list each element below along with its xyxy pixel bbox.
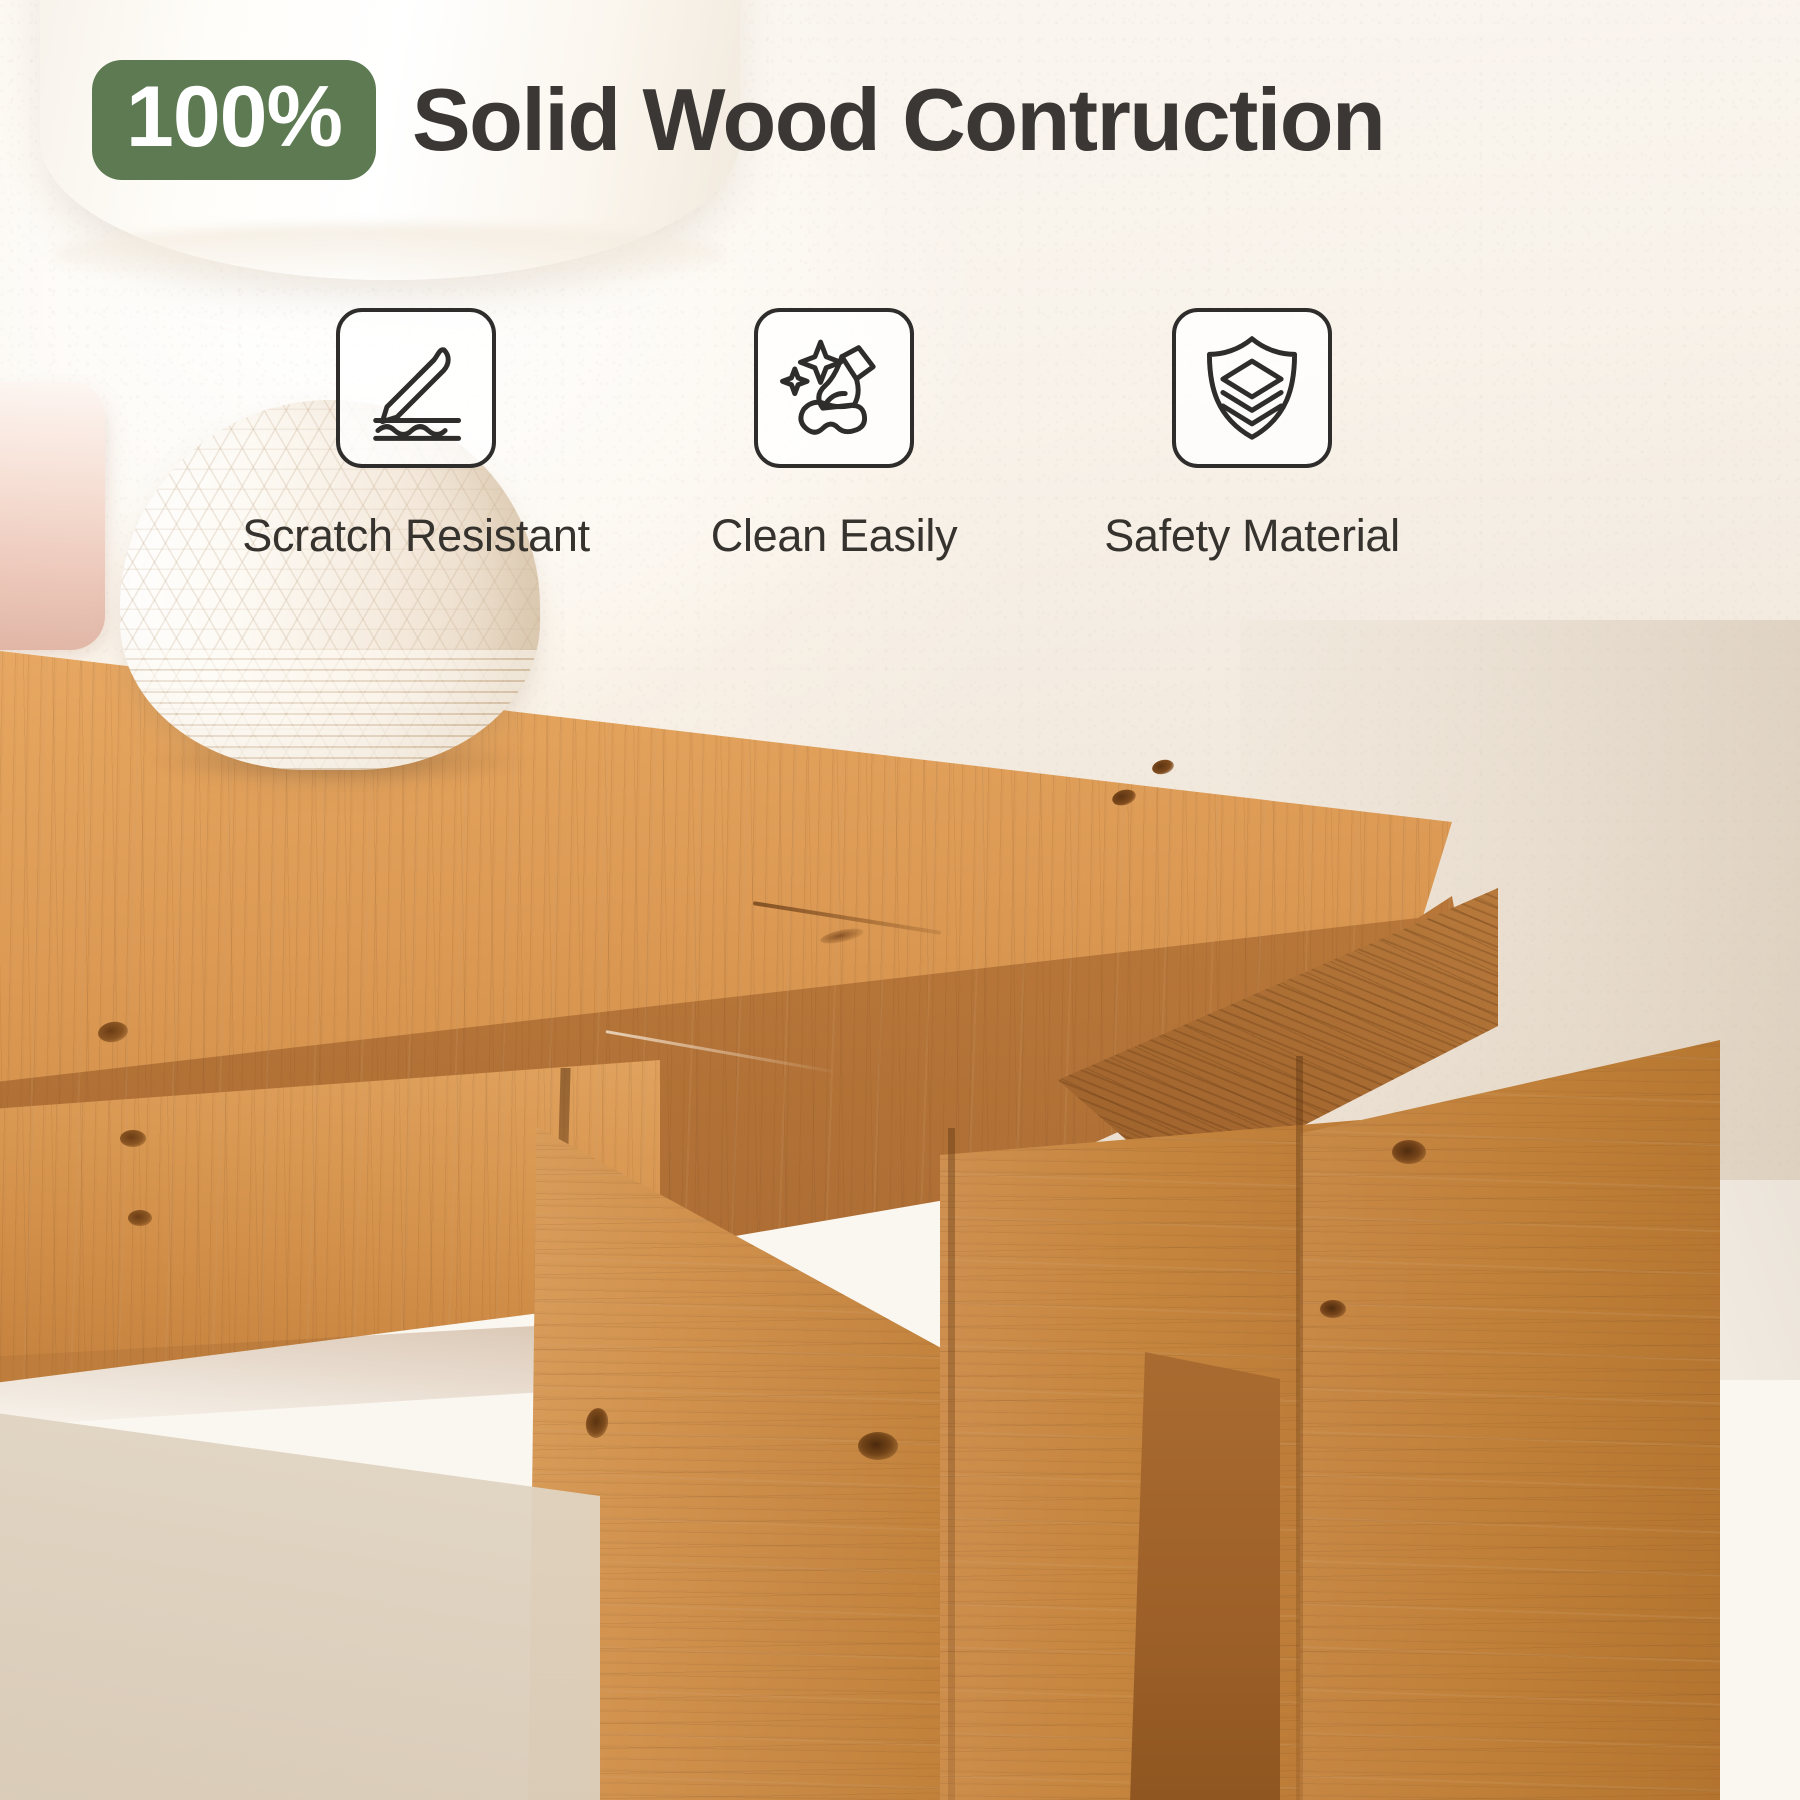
icon-box-safety-material <box>1172 308 1332 468</box>
icon-box-clean-easily <box>754 308 914 468</box>
hand-wipe-sparkle-icon <box>778 332 890 444</box>
feature-label-safety-material: Safety Material <box>1104 510 1400 562</box>
feature-item-safety-material: Safety Material <box>1136 308 1368 562</box>
product-feature-banner: 100% Solid Wood Contruction Scratch Resi… <box>0 0 1800 1800</box>
feature-label-scratch-resistant: Scratch Resistant <box>242 510 590 562</box>
marketing-overlay: 100% Solid Wood Contruction Scratch Resi… <box>0 0 1800 1800</box>
icon-box-scratch-resistant <box>336 308 496 468</box>
knife-scratch-icon <box>360 332 472 444</box>
feature-list: Scratch Resistant Clean Easily <box>300 308 1540 562</box>
feature-item-clean-easily: Clean Easily <box>718 308 950 562</box>
feature-item-scratch-resistant: Scratch Resistant <box>300 308 532 562</box>
shield-layers-icon <box>1196 332 1308 444</box>
headline-row: 100% Solid Wood Contruction <box>92 60 1384 180</box>
percent-badge: 100% <box>92 60 376 180</box>
page-title: Solid Wood Contruction <box>412 76 1384 164</box>
feature-label-clean-easily: Clean Easily <box>711 510 958 562</box>
